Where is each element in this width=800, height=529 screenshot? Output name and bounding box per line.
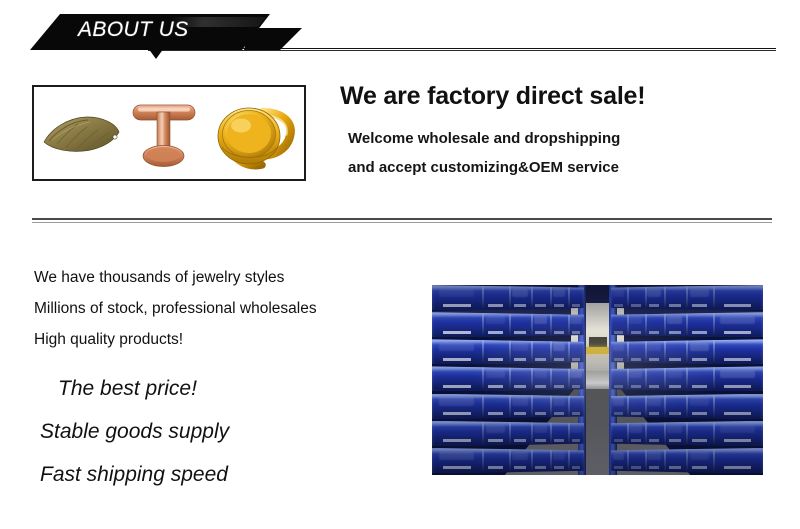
warehouse-bin-contents xyxy=(690,452,709,460)
banner-notch-triangle-icon xyxy=(148,48,164,59)
warehouse-bin-separator xyxy=(686,422,688,446)
warehouse-bin-contents xyxy=(553,343,565,351)
warehouse-bin-label xyxy=(572,331,581,334)
warehouse-bin-row xyxy=(611,366,763,392)
benefit-item: We have thousands of jewelry styles xyxy=(34,262,414,293)
warehouse-bin-separator xyxy=(482,340,484,364)
warehouse-bin-separator xyxy=(664,286,666,310)
intro-text-block: We are factory direct sale! Welcome whol… xyxy=(340,80,770,182)
warehouse-bin-label xyxy=(724,385,752,388)
warehouse-bin-label xyxy=(488,304,503,307)
warehouse-bin-label xyxy=(535,412,546,415)
warehouse-bin-label xyxy=(514,304,526,307)
warehouse-bin-separator xyxy=(509,422,511,446)
warehouse-bin-label xyxy=(692,385,707,388)
warehouse-bin-label xyxy=(669,358,681,361)
warehouse-bin-separator xyxy=(664,367,666,391)
warehouse-bin-label xyxy=(535,466,546,469)
warehouse-bin-label xyxy=(572,304,581,307)
warehouse-bin-separator xyxy=(482,422,484,446)
warehouse-aisle-photo xyxy=(432,285,763,475)
warehouse-bin-label xyxy=(554,331,564,334)
warehouse-shelf-rack-left xyxy=(432,285,584,475)
warehouse-bin-contents xyxy=(512,452,527,460)
warehouse-bin-label xyxy=(692,358,707,361)
warehouse-bin-label xyxy=(443,466,471,469)
warehouse-bin-label xyxy=(572,439,581,442)
warehouse-bin-separator xyxy=(627,286,629,310)
warehouse-bin-label xyxy=(514,466,526,469)
warehouse-bin-row xyxy=(432,285,584,311)
warehouse-bin-contents xyxy=(613,343,624,351)
warehouse-bin-label xyxy=(649,412,660,415)
warehouse-bin-label xyxy=(514,385,526,388)
benefit-highlights: The best price! Stable goods supply Fast… xyxy=(34,367,414,496)
warehouse-bin-label xyxy=(514,412,526,415)
warehouse-bin-row xyxy=(611,448,763,474)
warehouse-bin-separator xyxy=(713,449,715,473)
warehouse-bin-label xyxy=(572,385,581,388)
warehouse-bin-label xyxy=(572,466,581,469)
warehouse-bin-separator xyxy=(664,313,666,337)
warehouse-bin-contents xyxy=(534,425,548,433)
warehouse-bin-label xyxy=(692,466,707,469)
warehouse-bin-label xyxy=(669,331,681,334)
warehouse-bin-contents xyxy=(570,370,581,378)
warehouse-bin-separator xyxy=(482,395,484,419)
benefit-item: High quality products! xyxy=(34,324,414,355)
warehouse-bin-separator xyxy=(550,422,552,446)
warehouse-bin-label xyxy=(669,412,681,415)
warehouse-bin-label xyxy=(631,331,641,334)
warehouse-bin-separator xyxy=(531,422,533,446)
intro-sublines: Welcome wholesale and dropshipping and a… xyxy=(340,124,770,182)
warehouse-bin-separator xyxy=(686,340,688,364)
warehouse-bin-separator xyxy=(568,286,570,310)
warehouse-bin-label xyxy=(692,331,707,334)
warehouse-bin-label xyxy=(514,358,526,361)
warehouse-bin-label xyxy=(649,439,660,442)
warehouse-bin-separator xyxy=(509,286,511,310)
warehouse-bin-contents xyxy=(629,425,641,433)
product-sample-strip xyxy=(32,85,306,181)
warehouse-bin-label xyxy=(649,466,660,469)
warehouse-bin-label xyxy=(554,385,564,388)
warehouse-bin-label xyxy=(692,412,707,415)
warehouse-far-doorway xyxy=(589,337,607,347)
warehouse-bin-label xyxy=(649,331,660,334)
warehouse-bin-contents xyxy=(613,397,624,405)
warehouse-bin-contents xyxy=(613,289,624,297)
warehouse-bin-label xyxy=(724,358,752,361)
warehouse-far-light-sign xyxy=(586,347,609,354)
benefit-item: Millions of stock, professional wholesal… xyxy=(34,293,414,324)
warehouse-bin-separator xyxy=(531,395,533,419)
warehouse-bin-label xyxy=(631,358,641,361)
warehouse-bin-label xyxy=(535,439,546,442)
warehouse-bin-separator xyxy=(568,449,570,473)
warehouse-bin-label xyxy=(554,466,564,469)
warehouse-bin-label xyxy=(443,358,471,361)
warehouse-bin-label xyxy=(443,439,471,442)
warehouse-bin-separator xyxy=(531,286,533,310)
warehouse-bin-label xyxy=(488,439,503,442)
about-us-section: ABOUT US xyxy=(0,0,800,529)
warehouse-bin-label xyxy=(692,304,707,307)
warehouse-bin-label xyxy=(443,304,471,307)
cufflink-blank-icon xyxy=(126,99,202,169)
warehouse-bin-separator xyxy=(645,449,647,473)
section-title-banner: ABOUT US xyxy=(30,14,270,50)
warehouse-bin-label xyxy=(614,385,623,388)
warehouse-bin-separator xyxy=(645,286,647,310)
warehouse-scene xyxy=(432,285,763,475)
warehouse-bin-separator xyxy=(686,367,688,391)
warehouse-bin-label xyxy=(631,304,641,307)
warehouse-bin-label xyxy=(649,304,660,307)
warehouse-bin-label xyxy=(488,331,503,334)
warehouse-bin-contents xyxy=(720,425,755,433)
warehouse-bin-row xyxy=(611,394,763,420)
warehouse-bin-separator xyxy=(482,367,484,391)
warehouse-bin-label xyxy=(554,358,564,361)
warehouse-bin-label xyxy=(488,412,503,415)
warehouse-bin-separator xyxy=(713,367,715,391)
warehouse-bin-label xyxy=(724,331,752,334)
intro-subline: Welcome wholesale and dropshipping xyxy=(340,124,770,153)
warehouse-bin-separator xyxy=(713,313,715,337)
warehouse-bin-contents xyxy=(690,343,709,351)
warehouse-bin-separator xyxy=(627,449,629,473)
warehouse-bin-label xyxy=(669,439,681,442)
warehouse-bin-separator xyxy=(686,286,688,310)
warehouse-bin-separator xyxy=(482,449,484,473)
warehouse-bin-label xyxy=(535,331,546,334)
warehouse-bin-separator xyxy=(509,313,511,337)
warehouse-bin-contents xyxy=(570,316,581,324)
warehouse-bin-row xyxy=(611,312,763,338)
warehouse-bin-contents xyxy=(439,452,474,460)
warehouse-bin-separator xyxy=(627,395,629,419)
warehouse-bin-separator xyxy=(568,395,570,419)
section-title-text: ABOUT US xyxy=(78,18,189,42)
warehouse-bin-separator xyxy=(686,313,688,337)
warehouse-bin-separator xyxy=(645,367,647,391)
warehouse-bin-label xyxy=(614,412,623,415)
warehouse-bin-separator xyxy=(686,449,688,473)
warehouse-bin-label xyxy=(614,304,623,307)
warehouse-bin-separator xyxy=(509,395,511,419)
warehouse-bin-separator xyxy=(645,395,647,419)
warehouse-bin-label xyxy=(488,358,503,361)
warehouse-bin-separator xyxy=(645,340,647,364)
banner-tail-shape xyxy=(244,28,302,50)
warehouse-bin-label xyxy=(631,466,641,469)
warehouse-bin-separator xyxy=(550,313,552,337)
warehouse-bin-separator xyxy=(531,449,533,473)
warehouse-bin-label xyxy=(572,358,581,361)
warehouse-bin-row xyxy=(611,339,763,365)
warehouse-bin-separator xyxy=(686,395,688,419)
warehouse-bin-contents xyxy=(512,343,527,351)
warehouse-bin-separator xyxy=(664,422,666,446)
intro-headline: We are factory direct sale! xyxy=(340,80,770,112)
warehouse-bin-contents xyxy=(553,289,565,297)
warehouse-bin-separator xyxy=(645,422,647,446)
warehouse-bin-label xyxy=(669,466,681,469)
benefits-list: We have thousands of jewelry styles Mill… xyxy=(34,262,414,496)
warehouse-bin-separator xyxy=(713,395,715,419)
warehouse-bin-label xyxy=(535,304,546,307)
warehouse-bin-separator xyxy=(713,286,715,310)
warehouse-bin-contents xyxy=(486,370,505,378)
warehouse-bin-contents xyxy=(486,425,505,433)
warehouse-bin-label xyxy=(514,331,526,334)
warehouse-bin-label xyxy=(614,331,623,334)
warehouse-bin-contents xyxy=(647,343,661,351)
warehouse-bin-separator xyxy=(509,449,511,473)
warehouse-bin-separator xyxy=(568,340,570,364)
warehouse-bin-separator xyxy=(482,286,484,310)
warehouse-bin-label xyxy=(649,385,660,388)
warehouse-bin-contents xyxy=(667,316,682,324)
warehouse-bin-separator xyxy=(713,422,715,446)
warehouse-bin-label xyxy=(669,385,681,388)
section-header: ABOUT US xyxy=(0,0,800,62)
section-divider xyxy=(32,218,772,223)
warehouse-bin-label xyxy=(724,439,752,442)
warehouse-bin-contents xyxy=(690,289,709,297)
warehouse-bin-separator xyxy=(664,340,666,364)
warehouse-bin-label xyxy=(554,412,564,415)
benefit-highlight-item: The best price! xyxy=(40,367,414,410)
warehouse-bin-row xyxy=(432,421,584,447)
product-sample-images xyxy=(34,87,304,179)
warehouse-bin-contents xyxy=(439,343,474,351)
warehouse-bin-label xyxy=(724,412,752,415)
warehouse-bin-row xyxy=(432,448,584,474)
warehouse-bin-separator xyxy=(509,340,511,364)
warehouse-bin-row xyxy=(611,421,763,447)
warehouse-bin-label xyxy=(443,385,471,388)
warehouse-bin-contents xyxy=(720,370,755,378)
warehouse-bin-label xyxy=(631,439,641,442)
warehouse-bin-label xyxy=(669,304,681,307)
warehouse-bin-row xyxy=(432,312,584,338)
warehouse-bin-label xyxy=(554,304,564,307)
warehouse-bin-contents xyxy=(613,452,624,460)
warehouse-bin-label xyxy=(614,439,623,442)
warehouse-bin-contents xyxy=(486,316,505,324)
warehouse-bin-contents xyxy=(667,370,682,378)
warehouse-bin-label xyxy=(443,331,471,334)
warehouse-bin-contents xyxy=(690,397,709,405)
warehouse-bin-label xyxy=(631,385,641,388)
warehouse-bin-label xyxy=(488,466,503,469)
intro-subline: and accept customizing&OEM service xyxy=(340,153,770,182)
warehouse-bin-contents xyxy=(647,289,661,297)
warehouse-bin-contents xyxy=(720,316,755,324)
benefit-highlight-item: Stable goods supply xyxy=(40,410,414,453)
warehouse-bin-contents xyxy=(553,397,565,405)
warehouse-bin-contents xyxy=(647,452,661,460)
warehouse-bin-contents xyxy=(647,397,661,405)
ring-blank-bezel-icon xyxy=(210,98,296,172)
warehouse-bin-separator xyxy=(531,313,533,337)
warehouse-shelf-rack-right xyxy=(611,285,763,475)
warehouse-bin-separator xyxy=(509,367,511,391)
warehouse-bin-label xyxy=(514,439,526,442)
warehouse-bin-label xyxy=(692,439,707,442)
warehouse-bin-label xyxy=(649,358,660,361)
leaf-charm-pendant-icon xyxy=(40,111,122,155)
warehouse-bin-label xyxy=(443,412,471,415)
warehouse-bin-contents xyxy=(512,397,527,405)
warehouse-bin-row xyxy=(432,394,584,420)
warehouse-bin-row xyxy=(432,366,584,392)
warehouse-bin-separator xyxy=(482,313,484,337)
warehouse-bin-contents xyxy=(667,425,682,433)
warehouse-bin-label xyxy=(572,412,581,415)
warehouse-bin-contents xyxy=(512,289,527,297)
warehouse-bin-label xyxy=(535,358,546,361)
warehouse-bin-contents xyxy=(629,370,641,378)
warehouse-bin-contents xyxy=(439,397,474,405)
warehouse-bin-contents xyxy=(439,289,474,297)
warehouse-bin-contents xyxy=(629,316,641,324)
warehouse-bin-separator xyxy=(664,395,666,419)
warehouse-bin-label xyxy=(614,466,623,469)
warehouse-bin-contents xyxy=(570,425,581,433)
warehouse-bin-separator xyxy=(645,313,647,337)
warehouse-bin-label xyxy=(614,358,623,361)
warehouse-bin-separator xyxy=(664,449,666,473)
warehouse-bin-separator xyxy=(713,340,715,364)
warehouse-bin-row xyxy=(432,339,584,365)
warehouse-bin-label xyxy=(554,439,564,442)
warehouse-bin-separator xyxy=(627,340,629,364)
warehouse-bin-separator xyxy=(550,367,552,391)
warehouse-bin-separator xyxy=(531,367,533,391)
warehouse-bin-label xyxy=(724,304,752,307)
warehouse-bin-label xyxy=(631,412,641,415)
warehouse-bin-label xyxy=(535,385,546,388)
warehouse-bin-label xyxy=(488,385,503,388)
benefit-highlight-item: Fast shipping speed xyxy=(40,453,414,496)
warehouse-bin-row xyxy=(611,285,763,311)
warehouse-bin-label xyxy=(724,466,752,469)
warehouse-bin-contents xyxy=(534,316,548,324)
warehouse-bin-contents xyxy=(553,452,565,460)
warehouse-bin-contents xyxy=(534,370,548,378)
warehouse-bin-separator xyxy=(531,340,533,364)
